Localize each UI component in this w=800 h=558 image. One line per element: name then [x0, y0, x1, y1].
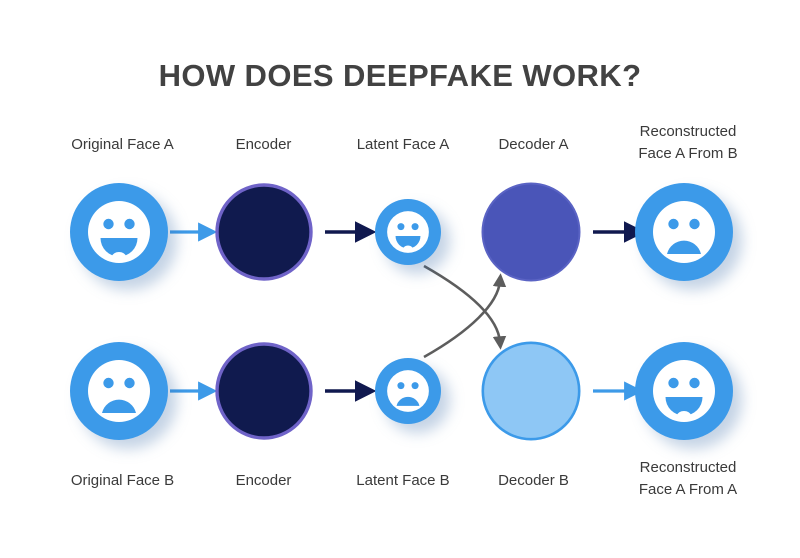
- label-reconstructed-a-from-b: Reconstructed Face A From B: [608, 121, 768, 165]
- label-encoder-a: Encoder: [196, 134, 331, 156]
- happy-face-icon: [635, 342, 733, 440]
- happy-face-icon: [70, 183, 168, 281]
- decoder-b-circle-icon: [481, 341, 581, 441]
- deepfake-diagram: HOW DOES DEEPFAKE WORK? Original Face A …: [0, 0, 800, 558]
- label-latent-face-a: Latent Face A: [333, 134, 473, 156]
- node-encoder-a[interactable]: [215, 183, 313, 281]
- label-encoder-b: Encoder: [196, 470, 331, 492]
- label-reconstructed-a-from-a: Reconstructed Face A From A: [608, 457, 768, 501]
- encoder-circle-icon: [215, 342, 313, 440]
- label-latent-face-b: Latent Face B: [333, 470, 473, 492]
- node-reconstructed-a-from-a[interactable]: [635, 342, 733, 440]
- node-encoder-b[interactable]: [215, 342, 313, 440]
- sad-face-icon: [635, 183, 733, 281]
- happy-face-icon: [375, 199, 441, 265]
- node-original-face-b[interactable]: [70, 342, 168, 440]
- node-latent-face-a[interactable]: [375, 199, 441, 265]
- page-title: HOW DOES DEEPFAKE WORK?: [0, 58, 800, 94]
- node-original-face-a[interactable]: [70, 183, 168, 281]
- decoder-a-circle-icon: [481, 182, 581, 282]
- sad-face-icon: [375, 358, 441, 424]
- node-decoder-a[interactable]: [481, 182, 581, 282]
- node-decoder-b[interactable]: [481, 341, 581, 441]
- encoder-circle-icon: [215, 183, 313, 281]
- label-original-face-a: Original Face A: [40, 134, 205, 156]
- node-latent-face-b[interactable]: [375, 358, 441, 424]
- node-reconstructed-a-from-b[interactable]: [635, 183, 733, 281]
- sad-face-icon: [70, 342, 168, 440]
- label-original-face-b: Original Face B: [40, 470, 205, 492]
- label-decoder-b: Decoder B: [466, 470, 601, 492]
- label-decoder-a: Decoder A: [466, 134, 601, 156]
